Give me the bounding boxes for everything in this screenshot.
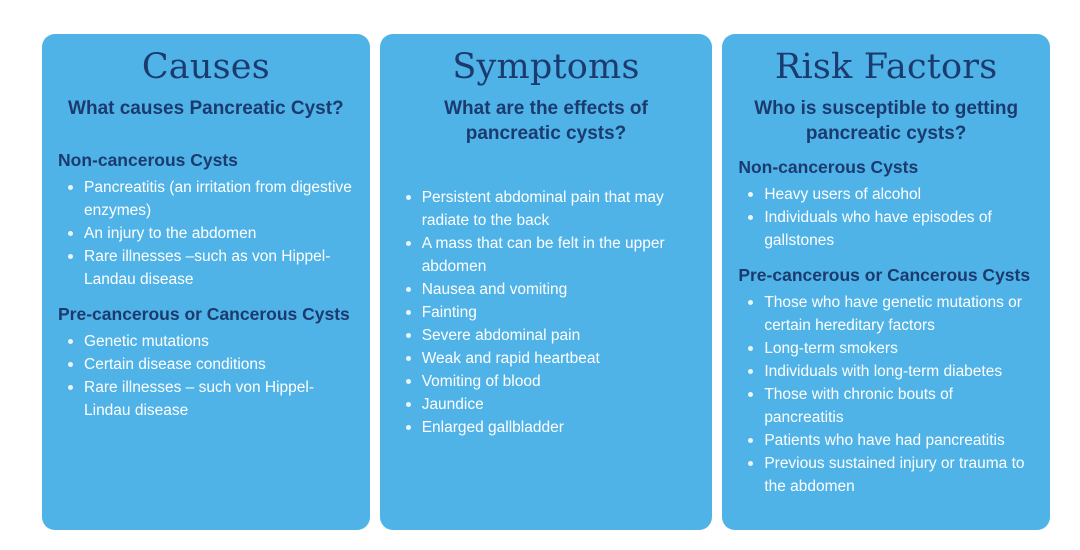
section-heading-noncancerous-causes: Non-cancerous Cysts xyxy=(56,149,356,172)
list-item: Rare illnesses – such von Hippel-Lindau … xyxy=(56,376,356,422)
list-item: Those who have genetic mutations or cert… xyxy=(736,291,1036,337)
list-item: Pancreatitis (an irritation from digesti… xyxy=(56,176,356,222)
card-title-causes: Causes xyxy=(56,44,356,90)
list-item: A mass that can be felt in the upper abd… xyxy=(394,232,699,278)
bullet-list-noncancerous-causes: Pancreatitis (an irritation from digesti… xyxy=(56,176,356,291)
bullet-list-noncancerous-risk: Heavy users of alcohol Individuals who h… xyxy=(736,183,1036,252)
list-item: An injury to the abdomen xyxy=(56,222,356,245)
list-item: Weak and rapid heartbeat xyxy=(394,347,699,370)
infographic-board: Causes What causes Pancreatic Cyst? Non-… xyxy=(0,0,1080,550)
list-item: Persistent abdominal pain that may radia… xyxy=(394,186,699,232)
list-item: Jaundice xyxy=(394,393,699,416)
spacer xyxy=(394,152,699,186)
bullet-list-precancerous-risk: Those who have genetic mutations or cert… xyxy=(736,291,1036,498)
card-risk-factors: Risk Factors Who is susceptible to getti… xyxy=(722,34,1050,530)
list-item: Enlarged gallbladder xyxy=(394,416,699,439)
list-item: Individuals with long-term diabetes xyxy=(736,360,1036,383)
list-item: Patients who have had pancreatitis xyxy=(736,429,1036,452)
section-heading-precancerous-causes: Pre-cancerous or Cancerous Cysts xyxy=(56,303,356,326)
list-item: Severe abdominal pain xyxy=(394,324,699,347)
section-heading-noncancerous-risk: Non-cancerous Cysts xyxy=(736,156,1036,179)
spacer xyxy=(56,127,356,149)
card-title-symptoms: Symptoms xyxy=(394,44,699,90)
list-item: Vomiting of blood xyxy=(394,370,699,393)
list-item: Those with chronic bouts of pancreatitis xyxy=(736,383,1036,429)
section-heading-precancerous-risk: Pre-cancerous or Cancerous Cysts xyxy=(736,264,1036,287)
card-title-risk-factors: Risk Factors xyxy=(736,44,1036,90)
card-subtitle-symptoms: What are the effects of pancreatic cysts… xyxy=(394,96,699,146)
bullet-list-symptoms: Persistent abdominal pain that may radia… xyxy=(394,186,699,439)
list-item: Heavy users of alcohol xyxy=(736,183,1036,206)
bullet-list-precancerous-causes: Genetic mutations Certain disease condit… xyxy=(56,330,356,422)
card-symptoms: Symptoms What are the effects of pancrea… xyxy=(380,34,713,530)
list-item: Genetic mutations xyxy=(56,330,356,353)
list-item: Previous sustained injury or trauma to t… xyxy=(736,452,1036,498)
list-item: Long-term smokers xyxy=(736,337,1036,360)
list-item: Nausea and vomiting xyxy=(394,278,699,301)
list-item: Rare illnesses –such as von Hippel-Landa… xyxy=(56,245,356,291)
card-subtitle-risk-factors: Who is susceptible to getting pancreatic… xyxy=(736,96,1036,146)
card-causes: Causes What causes Pancreatic Cyst? Non-… xyxy=(42,34,370,530)
card-subtitle-causes: What causes Pancreatic Cyst? xyxy=(56,96,356,121)
list-item: Fainting xyxy=(394,301,699,324)
list-item: Individuals who have episodes of gallsto… xyxy=(736,206,1036,252)
list-item: Certain disease conditions xyxy=(56,353,356,376)
